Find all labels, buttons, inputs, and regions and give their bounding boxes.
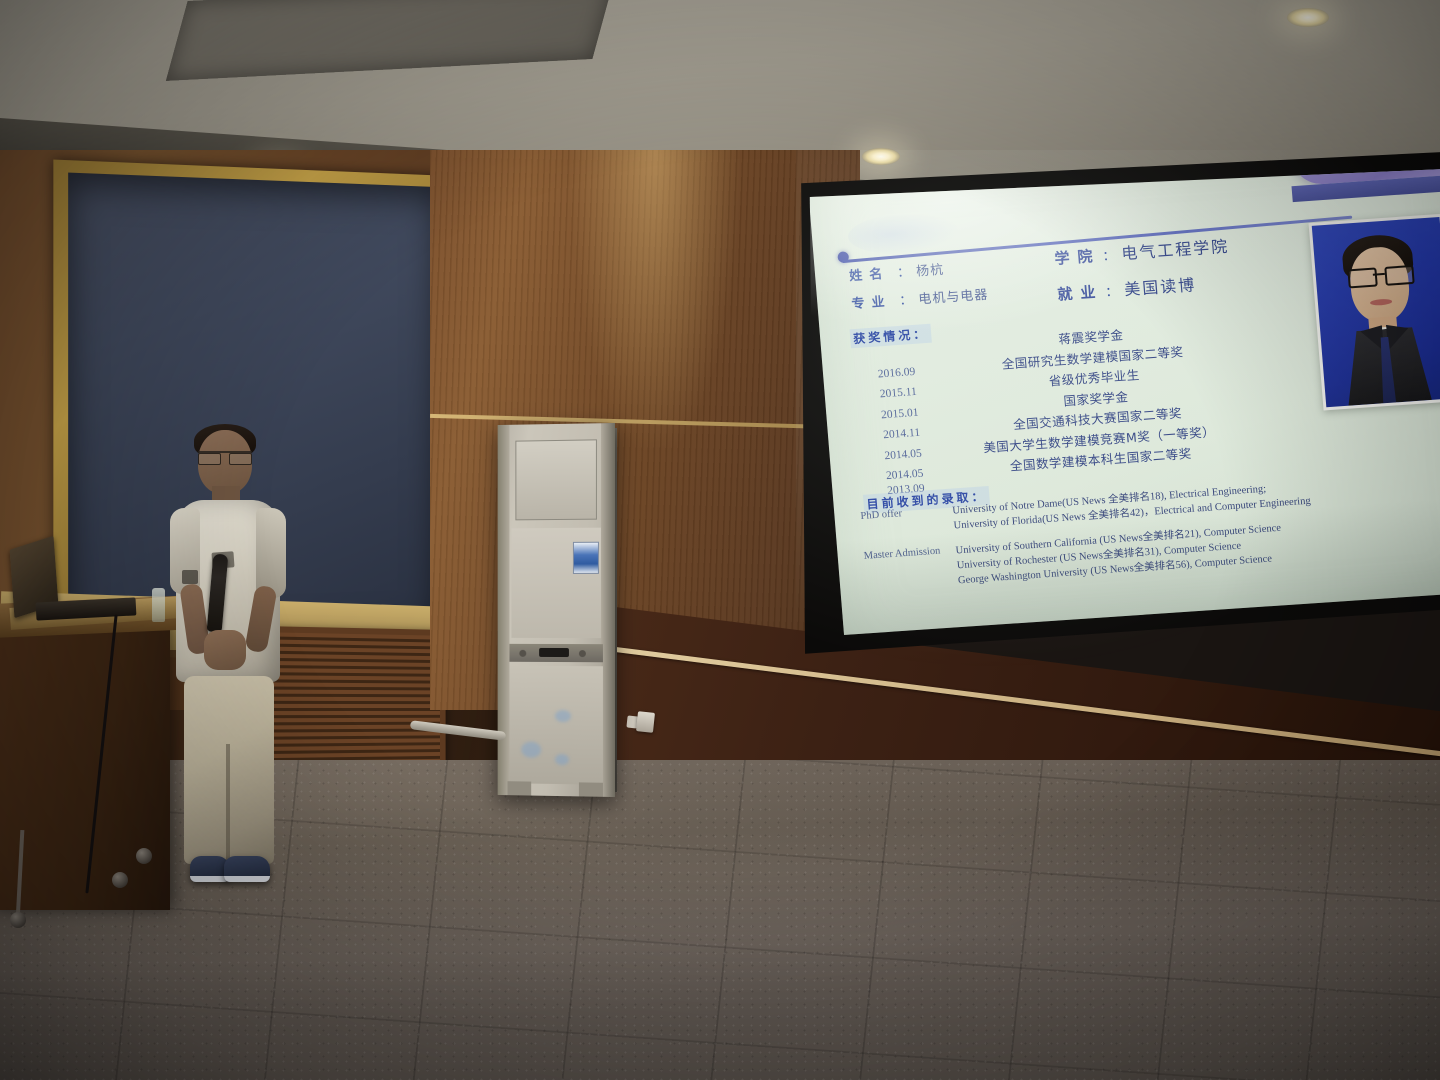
tshirt-pocket-detail [182, 570, 198, 584]
ceiling-recess-panel [166, 0, 614, 81]
field-name-colon: ： [896, 261, 911, 281]
ac-knob[interactable] [579, 650, 586, 657]
presentation-slide: 个人履历 姓名 ： 杨杭 专业 ： 电机与电器 [806, 162, 1440, 660]
presenter-right-shoe [224, 856, 270, 882]
field-name-value: 杨杭 [915, 259, 944, 280]
presenter [168, 424, 288, 904]
ac-right-edge [601, 423, 615, 797]
field-college-value: 电气工程学院 [1120, 233, 1230, 264]
portrait-left-lens [1347, 267, 1377, 288]
portrait-glasses-icon [1347, 265, 1410, 284]
wall-light-reflection [570, 150, 740, 450]
field-major-value: 电机与电器 [918, 284, 989, 308]
podium [0, 620, 170, 910]
ac-foot [507, 781, 531, 795]
ac-stain [521, 742, 541, 758]
lecture-hall-photo: 个人履历 姓名 ： 杨杭 专业 ： 电机与电器 [0, 0, 1440, 1080]
glasses-icon [198, 451, 252, 463]
ac-energy-label [573, 542, 599, 574]
power-outlet [636, 711, 655, 733]
projection-screen: 个人履历 姓名 ： 杨杭 专业 ： 电机与电器 [796, 152, 1440, 672]
portrait-photo-inner [1312, 217, 1440, 407]
ac-air-vent [515, 439, 597, 520]
ceiling-downlight [1287, 8, 1329, 27]
ac-stain [555, 754, 569, 765]
screen-surface: 个人履历 姓名 ： 杨杭 专业 ： 电机与电器 [806, 162, 1440, 662]
field-college-colon: ： [1102, 245, 1117, 265]
trouser-leg-seam [226, 744, 230, 866]
identity-fields-left: 姓名 ： 杨杭 专业 ： 电机与电器 [848, 249, 1082, 321]
water-bottle [152, 588, 165, 622]
cart-wheel [112, 872, 128, 888]
ac-lower-panel [509, 666, 602, 785]
admission-tag: PhD offer [852, 505, 954, 542]
field-employment-colon: ： [1105, 281, 1120, 301]
ac-display [539, 648, 569, 657]
admission-tag: Master Admission [855, 544, 958, 596]
glasses-left-lens [198, 453, 221, 465]
floor-air-conditioner[interactable] [498, 423, 615, 797]
portrait-glasses-bridge [1373, 273, 1385, 276]
cart-wheel [136, 848, 152, 864]
ac-stain [555, 710, 571, 722]
ac-knob[interactable] [519, 650, 526, 657]
awards-list: 蒋震奖学金 2016.09 全国研究生数学建模国家二等奖 2015.11 省级优… [839, 315, 1271, 508]
field-major-colon: ： [899, 289, 914, 309]
shoe-sole [224, 876, 270, 882]
presenter-right-sleeve [256, 508, 286, 598]
field-employment: 就业 ： 美国读博 [1056, 263, 1307, 304]
slide-watermark [847, 210, 960, 258]
presenter-hands [204, 630, 246, 670]
cart-wheel [10, 912, 26, 928]
field-name-label: 姓名 [848, 262, 895, 284]
field-employment-value: 美国读博 [1123, 271, 1197, 300]
glasses-right-lens [229, 453, 252, 465]
portrait-photo [1309, 214, 1440, 411]
ac-foot [579, 782, 603, 796]
portrait-right-lens [1384, 265, 1414, 286]
field-major: 专业 ： 电机与电器 [851, 277, 1082, 312]
field-major-label: 专业 [851, 290, 898, 312]
award-date [840, 353, 924, 359]
field-employment-label: 就业 [1057, 281, 1105, 305]
field-college-label: 学院 [1054, 245, 1102, 269]
